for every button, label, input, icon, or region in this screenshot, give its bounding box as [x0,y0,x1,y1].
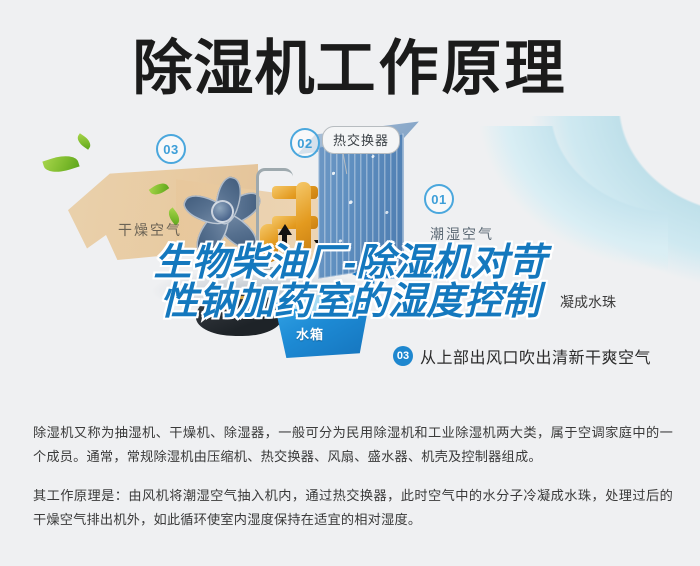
page-title: 除湿机工作原理 [133,39,568,99]
condensation-drops-icon [318,133,404,279]
step-badge-01: 01 [424,184,454,214]
leaf-icon [42,151,79,177]
flow-arrow-up-icon [278,224,292,235]
body-copy: 除湿机又称为抽湿机、干燥机、除湿器，一般可分为民用除湿机和工业除湿机两大类，属于… [33,421,673,539]
step-03-caption: 03 从上部出风口吹出清新干爽空气 [393,344,651,368]
step-03-caption-text: 从上部出风口吹出清新干爽空气 [420,344,651,368]
page-title-part-two: 工作原理 [316,35,568,102]
copper-pipe-icon [260,224,278,262]
humid-air-swoosh-inner-icon [418,126,668,286]
step-03-badge: 03 [393,346,413,366]
body-paragraph-2: 其工作原理是：由风机将潮湿空气抽入机内，通过热交换器，此时空气中的水分子冷凝成水… [33,484,673,533]
heat-exchanger-icon [318,133,404,279]
body-paragraph-1: 除湿机又称为抽湿机、干燥机、除湿器，一般可分为民用除湿机和工业除湿机两大类，属于… [33,421,673,470]
water-tank-label: 水箱 [296,324,324,343]
copper-pipe-icon [296,182,311,256]
water-tank-icon: 水箱 [268,298,370,358]
copper-pipe-icon [272,186,318,199]
heat-exchanger-callout: 热交换器 [322,126,400,154]
page-title-part-one: 除湿机 [133,35,316,102]
fan-hub-icon [211,200,234,223]
leaf-icon [75,133,93,149]
step-badge-03: 03 [156,134,186,164]
compressor-ring-icon [224,296,264,315]
humid-air-label: 潮湿空气 [430,224,494,244]
dry-air-label: 干燥空气 [118,220,182,240]
condensed-water-label: 凝成水珠 [560,292,616,312]
step-badge-02: 02 [290,128,320,158]
flow-arrow-icon [282,234,287,246]
page-title-bar: 除湿机工作原理 [0,26,700,112]
